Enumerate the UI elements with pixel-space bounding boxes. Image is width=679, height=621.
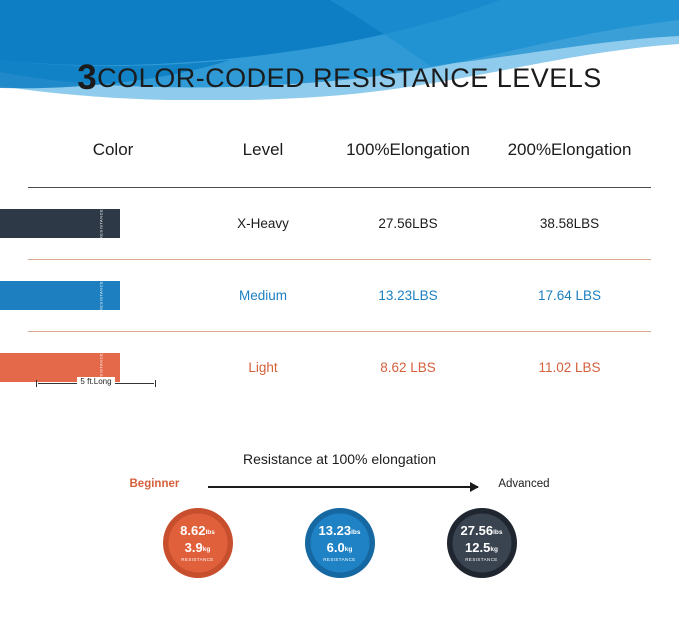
badge-kg-value: 12.5 [465, 540, 490, 555]
badge-caption: RESISTANCE [465, 558, 497, 563]
scale-arrow-icon [208, 486, 478, 488]
table-header-row: Color Level 100%Elongation 200%Elongatio… [28, 112, 651, 188]
scale-arrow-row: Beginner Advanced [130, 477, 550, 497]
resistance-table: Color Level 100%Elongation 200%Elongatio… [0, 112, 679, 403]
resistance-badge: 27.56lbs 12.5kg RESISTANCE [446, 507, 518, 579]
badge-kg-unit: kg [490, 546, 498, 553]
badge-kg-unit: kg [203, 546, 211, 553]
badge-lbs-unit: lbs [493, 529, 502, 536]
scale-end-label: Advanced [498, 478, 549, 490]
table-row: RESISTANCE Medium 13.23LBS 17.64 LBS [28, 260, 651, 331]
badge-lbs-unit: lbs [351, 529, 360, 536]
badge-caption: RESISTANCE [323, 558, 355, 563]
badge-text: 8.62lbs 3.9kg RESISTANCE [162, 507, 234, 579]
badge-kg-value: 6.0 [327, 540, 345, 555]
resistance-scale-section: Resistance at 100% elongation Beginner A… [0, 451, 679, 621]
page-title-text: COLOR-CODED RESISTANCE LEVELS [97, 63, 602, 93]
length-ruler: 5 ft.Long [36, 380, 156, 395]
resistance-badge: 13.23lbs 6.0kg RESISTANCE [304, 507, 376, 579]
table-header-color: Color [28, 140, 198, 160]
level-value: Medium [198, 288, 328, 303]
resistance-badges: 8.62lbs 3.9kg RESISTANCE 13.23lbs 6.0kg … [0, 507, 679, 579]
badge-lbs-value: 27.56 [461, 523, 494, 538]
color-band: RESISTANCE [0, 209, 120, 238]
elongation-100-value: 27.56LBS [328, 216, 488, 231]
color-swatch-cell: RESISTANCE [28, 209, 198, 238]
table-header-level: Level [198, 140, 328, 160]
scale-start-label: Beginner [130, 478, 180, 490]
badge-text: 27.56lbs 12.5kg RESISTANCE [446, 507, 518, 579]
band-label: RESISTANCE [98, 280, 103, 310]
table-row: RESISTANCE X-Heavy 27.56LBS 38.58LBS [28, 188, 651, 259]
badge-kg-value: 3.9 [185, 540, 203, 555]
table-row: RESISTANCE Light 8.62 LBS 11.02 LBS 5 ft… [28, 332, 651, 403]
color-swatch-cell: RESISTANCE [28, 281, 198, 310]
badge-lbs-unit: lbs [205, 529, 214, 536]
table-header-elongation-100: 100%Elongation [328, 140, 488, 160]
resistance-badge: 8.62lbs 3.9kg RESISTANCE [162, 507, 234, 579]
badge-lbs-value: 8.62 [180, 523, 205, 538]
table-header-elongation-200: 200%Elongation [488, 140, 651, 160]
ruler-label: 5 ft.Long [77, 377, 114, 386]
level-value: X-Heavy [198, 216, 328, 231]
elongation-200-value: 38.58LBS [488, 216, 651, 231]
header-banner: 3COLOR-CODED RESISTANCE LEVELS [0, 0, 679, 112]
badge-caption: RESISTANCE [181, 558, 213, 563]
elongation-100-value: 8.62 LBS [328, 360, 488, 375]
elongation-200-value: 11.02 LBS [488, 360, 651, 375]
badge-kg-unit: kg [345, 546, 353, 553]
scale-title: Resistance at 100% elongation [0, 451, 679, 467]
page-title-number: 3 [77, 58, 97, 97]
level-value: Light [198, 360, 328, 375]
elongation-100-value: 13.23LBS [328, 288, 488, 303]
badge-lbs-value: 13.23 [319, 523, 352, 538]
page-title: 3COLOR-CODED RESISTANCE LEVELS [0, 58, 679, 98]
color-band: RESISTANCE [0, 281, 120, 310]
badge-text: 13.23lbs 6.0kg RESISTANCE [304, 507, 376, 579]
elongation-200-value: 17.64 LBS [488, 288, 651, 303]
band-label: RESISTANCE [98, 208, 103, 238]
